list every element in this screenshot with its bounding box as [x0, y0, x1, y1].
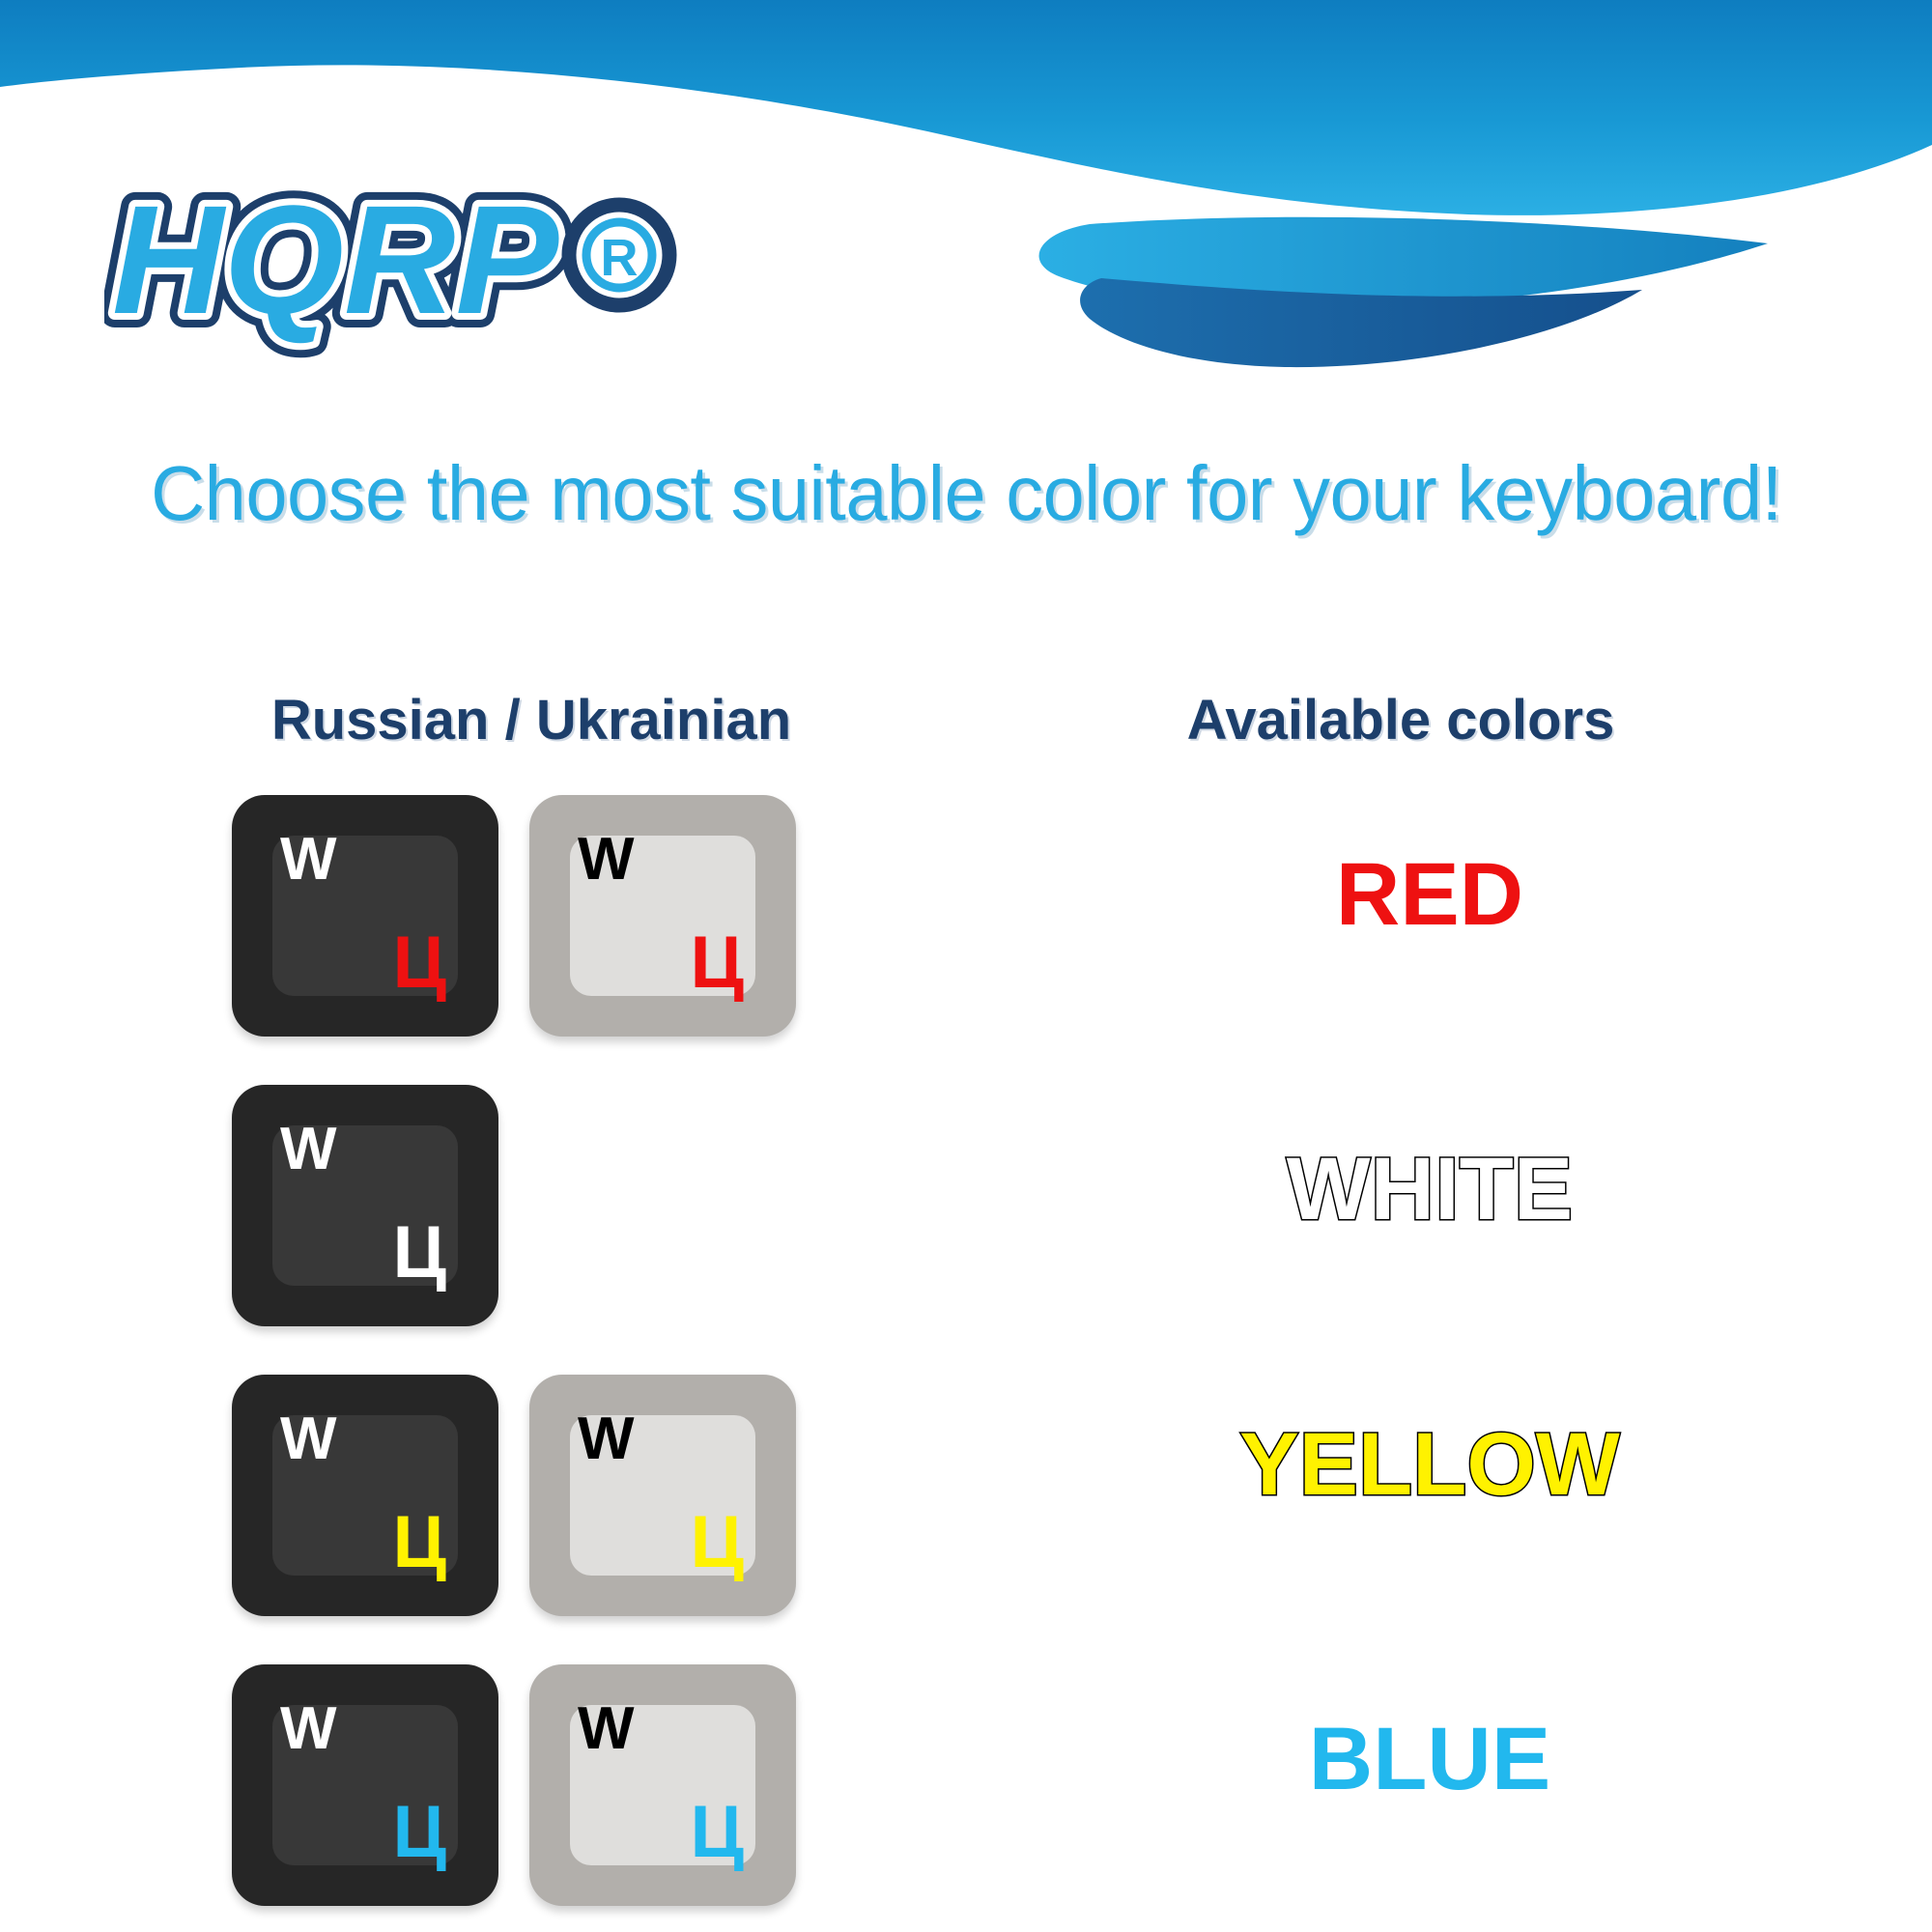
color-name-label-red: RED — [1092, 850, 1768, 939]
key-cyrillic-glyph: Ц — [392, 1216, 446, 1290]
color-name-label-yellow: YELLOW — [1092, 1420, 1768, 1509]
key-cyrillic-glyph: Ц — [690, 1506, 744, 1579]
column-heading-languages: Russian / Ukrainian — [193, 688, 869, 753]
key-cyrillic-glyph: Ц — [690, 1796, 744, 1869]
logo-wordmark-fill: HQRP — [112, 173, 559, 346]
key-inner-panel: WЦ — [570, 836, 755, 996]
key-cyrillic-glyph: Ц — [392, 926, 446, 1000]
keyboard-sticker-key-dark[interactable]: WЦ — [232, 1664, 498, 1906]
keyboard-sticker-key-light[interactable]: WЦ — [529, 1664, 796, 1906]
key-inner-panel: WЦ — [570, 1415, 755, 1576]
color-name-label-white: WHITE — [1092, 1145, 1768, 1234]
registered-trademark-icon: R — [569, 205, 669, 305]
key-latin-glyph: W — [280, 830, 336, 890]
hqrp-logo-svg: HQRP HQRP HQRP R — [104, 166, 723, 369]
keyboard-sticker-key-dark[interactable]: WЦ — [232, 795, 498, 1037]
key-cyrillic-glyph: Ц — [392, 1506, 446, 1579]
key-cyrillic-glyph: Ц — [392, 1796, 446, 1869]
svg-text:R: R — [601, 229, 639, 287]
keyboard-sticker-key-dark[interactable]: WЦ — [232, 1085, 498, 1326]
hqrp-logo: HQRP HQRP HQRP R — [104, 166, 723, 369]
key-latin-glyph: W — [578, 1699, 634, 1759]
key-latin-glyph: W — [280, 1120, 336, 1179]
headline-banner: Choose the most suitable color for your … — [0, 449, 1932, 538]
key-latin-glyph: W — [280, 1699, 336, 1759]
key-inner-panel: WЦ — [272, 1415, 458, 1576]
key-latin-glyph: W — [280, 1409, 336, 1469]
key-latin-glyph: W — [578, 830, 634, 890]
key-inner-panel: WЦ — [272, 836, 458, 996]
keyboard-sticker-key-light[interactable]: WЦ — [529, 795, 796, 1037]
key-inner-panel: WЦ — [570, 1705, 755, 1865]
key-inner-panel: WЦ — [272, 1125, 458, 1286]
keyboard-sticker-key-light[interactable]: WЦ — [529, 1375, 796, 1616]
color-name-label-blue: BLUE — [1092, 1715, 1768, 1804]
key-inner-panel: WЦ — [272, 1705, 458, 1865]
keyboard-sticker-key-dark[interactable]: WЦ — [232, 1375, 498, 1616]
headline-text: Choose the most suitable color for your … — [151, 449, 1782, 538]
key-latin-glyph: W — [578, 1409, 634, 1469]
column-heading-colors: Available colors — [1063, 688, 1739, 753]
key-cyrillic-glyph: Ц — [690, 926, 744, 1000]
